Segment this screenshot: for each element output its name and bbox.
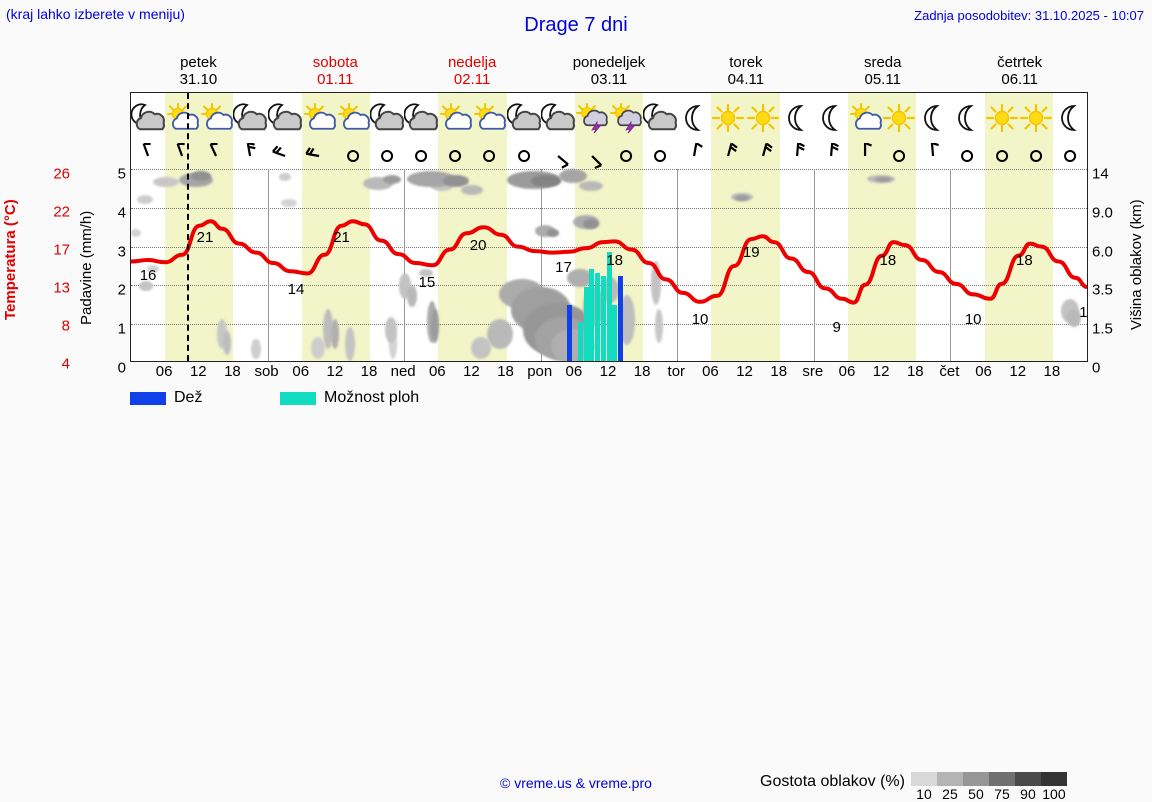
weather-icon-cell-23 xyxy=(916,93,950,143)
page-header: (kraj lahko izberete v meniju) Drage 7 d… xyxy=(0,0,1152,40)
day-date: 05.11 xyxy=(814,71,951,88)
time-tick-label: 18 xyxy=(770,363,787,380)
axis-tick: 4 xyxy=(62,356,70,373)
last-update-text: Zadnja posodobitev: 31.10.2025 - 10:07 xyxy=(914,8,1144,23)
cloud-density-tick: 10 xyxy=(911,786,937,802)
cloud-height-axis-title: Višina oblakov (km) xyxy=(1128,170,1150,360)
wind-barb-cell-15 xyxy=(643,143,677,169)
wind-barb-cell-9 xyxy=(438,143,472,169)
weather-icon-cell-13 xyxy=(575,93,609,143)
axis-tick: 2 xyxy=(118,282,126,299)
moon-cloud-icon xyxy=(131,103,165,133)
moon-cloud-icon xyxy=(370,103,404,133)
moon-icon xyxy=(1053,103,1087,133)
legend-rain: Dež xyxy=(130,389,202,407)
temperature-label-0: 16 xyxy=(140,267,157,284)
weather-icon-cell-27 xyxy=(1053,93,1087,143)
cloud-density-swatch xyxy=(937,772,963,786)
legend: Dež Možnost ploh © vreme.us & vreme.pro … xyxy=(0,386,1152,426)
axis-tick: 26 xyxy=(53,166,70,183)
cloud-density-colorbar xyxy=(911,772,1067,786)
temperature-label-2: 14 xyxy=(288,281,305,298)
temperature-axis-title: Temperatura (°C) xyxy=(2,170,26,350)
weather-icon-cell-1 xyxy=(165,93,199,143)
wind-barb-cell-20 xyxy=(814,143,848,169)
time-tick-label: 12 xyxy=(463,363,480,380)
wind-barb-cell-11 xyxy=(507,143,541,169)
time-tick-label: 18 xyxy=(1044,363,1061,380)
time-tick-label: 18 xyxy=(634,363,651,380)
time-tick-label: 06 xyxy=(839,363,856,380)
day-name: sobota xyxy=(267,54,404,71)
wind-barb-cell-8 xyxy=(404,143,438,169)
wind-barb-cell-23 xyxy=(916,143,950,169)
weather-icon-cell-4 xyxy=(268,93,302,143)
sun-cloud-icon xyxy=(336,103,370,133)
day-name: ponedeljek xyxy=(541,54,678,71)
temperature-label-9: 19 xyxy=(743,244,760,261)
precipitation-axis-ticks: 543210 xyxy=(100,160,126,365)
rain-color-swatch xyxy=(130,392,166,405)
day-column-3: ponedeljek03.11 xyxy=(541,54,678,88)
wind-barb-cell-19 xyxy=(780,143,814,169)
moon-cloud-icon xyxy=(268,103,302,133)
day-name: nedelja xyxy=(404,54,541,71)
day-column-6: četrtek06.11 xyxy=(951,54,1088,88)
wind-barb-cell-3 xyxy=(233,143,267,169)
temperature-label-4: 15 xyxy=(419,274,436,291)
time-tick-label: 18 xyxy=(361,363,378,380)
time-tick-label: 18 xyxy=(907,363,924,380)
temperature-label-14: 11 xyxy=(1079,304,1088,321)
wind-barb-cell-16 xyxy=(677,143,711,169)
sun-cloud-icon xyxy=(165,103,199,133)
axis-tick: 17 xyxy=(53,242,70,259)
cloud-density-tick: 75 xyxy=(989,786,1015,802)
day-name: petek xyxy=(130,54,267,71)
axis-tick: 4 xyxy=(118,204,126,221)
time-tick-label: ned xyxy=(391,363,416,380)
moon-cloud-icon xyxy=(643,103,677,133)
moon-icon xyxy=(677,103,711,133)
wind-barb-cell-22 xyxy=(882,143,916,169)
time-tick-label: 06 xyxy=(702,363,719,380)
time-tick-label: 18 xyxy=(224,363,241,380)
graph-area: 16211421152017181019918101811 xyxy=(131,169,1087,361)
time-tick-label: 12 xyxy=(190,363,207,380)
wind-barb-cell-25 xyxy=(985,143,1019,169)
temperature-label-8: 10 xyxy=(692,311,709,328)
day-column-5: sreda05.11 xyxy=(814,54,951,88)
moon-cloud-icon xyxy=(233,103,267,133)
axis-tick: 0 xyxy=(1092,360,1100,377)
moon-icon xyxy=(780,103,814,133)
day-date: 31.10 xyxy=(130,71,267,88)
day-name: sreda xyxy=(814,54,951,71)
time-tick-label: 12 xyxy=(327,363,344,380)
cloud-density-tick: 90 xyxy=(1015,786,1041,802)
axis-tick: 3 xyxy=(118,243,126,260)
temperature-label-3: 21 xyxy=(333,229,350,246)
wind-barb-cell-13 xyxy=(575,143,609,169)
wind-barb-cell-21 xyxy=(848,143,882,169)
time-tick-label: 12 xyxy=(736,363,753,380)
weather-icon-cell-24 xyxy=(950,93,984,143)
moon-icon xyxy=(950,103,984,133)
time-tick-label: 18 xyxy=(497,363,514,380)
sun-cloud-icon xyxy=(199,103,233,133)
sun-cloud-icon xyxy=(438,103,472,133)
axis-tick: 5 xyxy=(118,166,126,183)
time-tick-label: 06 xyxy=(156,363,173,380)
time-tick-label: čet xyxy=(939,363,959,380)
temperature-label-7: 18 xyxy=(606,252,623,269)
temperature-label-10: 9 xyxy=(832,319,840,336)
cloud-density-swatch xyxy=(963,772,989,786)
weather-icon-cell-0 xyxy=(131,93,165,143)
time-tick-label: sob xyxy=(254,363,278,380)
moon-cloud-icon xyxy=(541,103,575,133)
day-date: 04.11 xyxy=(677,71,814,88)
day-column-0: petek31.10 xyxy=(130,54,267,88)
time-tick-label: 06 xyxy=(292,363,309,380)
axis-tick: 22 xyxy=(53,204,70,221)
legend-showers-label: Možnost ploh xyxy=(324,389,419,407)
day-date: 02.11 xyxy=(404,71,541,88)
sun-cloud-icon xyxy=(302,103,336,133)
weather-icon-cell-10 xyxy=(472,93,506,143)
cloud-density-tick: 100 xyxy=(1041,786,1067,802)
cloud-density-label: Gostota oblakov (%) xyxy=(760,772,905,791)
precipitation-axis-title: Padavine (mm/h) xyxy=(78,185,100,350)
day-name: torek xyxy=(677,54,814,71)
cloud-density-swatch xyxy=(1041,772,1067,786)
weather-icon-cell-2 xyxy=(199,93,233,143)
day-date: 01.11 xyxy=(267,71,404,88)
time-tick-label: 12 xyxy=(600,363,617,380)
temperature-label-13: 18 xyxy=(1016,252,1033,269)
weather-icon-cell-7 xyxy=(370,93,404,143)
cloud-density-tick-labels: 1025507590100 xyxy=(911,786,1067,802)
moon-icon xyxy=(916,103,950,133)
wind-barb-cell-5 xyxy=(302,143,336,169)
time-axis-labels: 061218sob061218ned061218pon061218tor0612… xyxy=(130,363,1088,383)
axis-tick: 14 xyxy=(1092,166,1109,183)
day-column-2: nedelja02.11 xyxy=(404,54,541,88)
moon-icon xyxy=(814,103,848,133)
time-tick-label: pon xyxy=(527,363,552,380)
weather-icon-cell-25 xyxy=(985,93,1019,143)
axis-tick: 9.0 xyxy=(1092,204,1113,221)
cloud-density-swatch xyxy=(1015,772,1041,786)
time-tick-label: 06 xyxy=(429,363,446,380)
wind-barb-cell-17 xyxy=(711,143,745,169)
wind-barb-cell-7 xyxy=(370,143,404,169)
time-tick-label: sre xyxy=(802,363,823,380)
wind-barb-cell-6 xyxy=(336,143,370,169)
legend-rain-label: Dež xyxy=(174,389,202,407)
wind-barb-cell-18 xyxy=(746,143,780,169)
weather-icon-cell-22 xyxy=(882,93,916,143)
forecast-plot: 16211421152017181019918101811 xyxy=(130,92,1088,362)
time-tick-label: tor xyxy=(668,363,686,380)
day-date: 03.11 xyxy=(541,71,678,88)
temperature-label-5: 20 xyxy=(470,237,487,254)
temperature-axis-ticks: 2622171384 xyxy=(30,160,70,365)
moon-cloud-icon xyxy=(404,103,438,133)
weather-icon-cell-5 xyxy=(302,93,336,143)
weather-icon-cell-3 xyxy=(233,93,267,143)
temperature-label-1: 21 xyxy=(197,229,214,246)
sun-cloud-icon xyxy=(472,103,506,133)
temperature-label-12: 10 xyxy=(965,311,982,328)
showers-color-swatch xyxy=(280,392,316,405)
weather-icon-cell-12 xyxy=(541,93,575,143)
copyright-link[interactable]: © vreme.us & vreme.pro xyxy=(500,775,652,791)
day-date: 06.11 xyxy=(951,71,1088,88)
weather-icon-cell-14 xyxy=(609,93,643,143)
sun-icon xyxy=(746,103,780,133)
time-tick-label: 06 xyxy=(566,363,583,380)
sun-icon xyxy=(882,103,916,133)
cloud-density-tick: 50 xyxy=(963,786,989,802)
weather-icon-cell-8 xyxy=(404,93,438,143)
axis-tick: 13 xyxy=(53,280,70,297)
day-header-row: petek31.10sobota01.11nedelja02.11ponedel… xyxy=(130,54,1088,88)
legend-showers: Možnost ploh xyxy=(280,389,419,407)
cloud-density-scale: 1025507590100 xyxy=(911,772,1067,802)
sun-thunder-icon xyxy=(609,103,643,133)
sun-thunder-icon xyxy=(575,103,609,133)
wind-barb-cell-0 xyxy=(131,143,165,169)
weather-icon-cell-17 xyxy=(711,93,745,143)
moon-cloud-icon xyxy=(507,103,541,133)
sun-icon xyxy=(1019,103,1053,133)
weather-icon-cell-6 xyxy=(336,93,370,143)
day-column-1: sobota01.11 xyxy=(267,54,404,88)
cloud-height-axis-ticks: 149.06.03.51.50 xyxy=(1092,160,1128,365)
axis-tick: 1 xyxy=(118,321,126,338)
cloud-density-legend: Gostota oblakov (%) 1025507590100 xyxy=(760,772,1067,802)
weather-icon-cell-19 xyxy=(780,93,814,143)
day-name: četrtek xyxy=(951,54,1088,71)
wind-barb-cell-27 xyxy=(1053,143,1087,169)
axis-tick: 1.5 xyxy=(1092,321,1113,338)
time-tick-label: 06 xyxy=(975,363,992,380)
wind-barb-cell-2 xyxy=(199,143,233,169)
weather-icon-cell-15 xyxy=(643,93,677,143)
weather-icon-cell-26 xyxy=(1019,93,1053,143)
weather-icon-cell-21 xyxy=(848,93,882,143)
time-tick-label: 12 xyxy=(1009,363,1026,380)
wind-barb-cell-4 xyxy=(268,143,302,169)
sun-cloud-icon xyxy=(848,103,882,133)
cloud-density-swatch xyxy=(911,772,937,786)
wind-barb-row xyxy=(131,143,1087,169)
axis-tick: 0 xyxy=(118,360,126,377)
wind-barb-cell-1 xyxy=(165,143,199,169)
wind-barb-cell-24 xyxy=(950,143,984,169)
axis-tick: 3.5 xyxy=(1092,282,1113,299)
wind-barb-cell-14 xyxy=(609,143,643,169)
weather-icon-cell-16 xyxy=(677,93,711,143)
sun-icon xyxy=(711,103,745,133)
weather-icon-row xyxy=(131,93,1087,143)
cloud-density-swatch xyxy=(989,772,1015,786)
weather-icon-cell-11 xyxy=(507,93,541,143)
weather-icon-cell-9 xyxy=(438,93,472,143)
current-time-marker xyxy=(187,93,189,361)
axis-tick: 6.0 xyxy=(1092,243,1113,260)
weather-icon-cell-18 xyxy=(746,93,780,143)
axis-tick: 8 xyxy=(62,318,70,335)
temperature-label-6: 17 xyxy=(555,259,572,276)
wind-barb-cell-26 xyxy=(1019,143,1053,169)
sun-icon xyxy=(985,103,1019,133)
day-column-4: torek04.11 xyxy=(677,54,814,88)
wind-barb-cell-12 xyxy=(541,143,575,169)
wind-barb-cell-10 xyxy=(472,143,506,169)
weather-icon-cell-20 xyxy=(814,93,848,143)
cloud-density-tick: 25 xyxy=(937,786,963,802)
temperature-label-11: 18 xyxy=(879,252,896,269)
time-tick-label: 12 xyxy=(873,363,890,380)
